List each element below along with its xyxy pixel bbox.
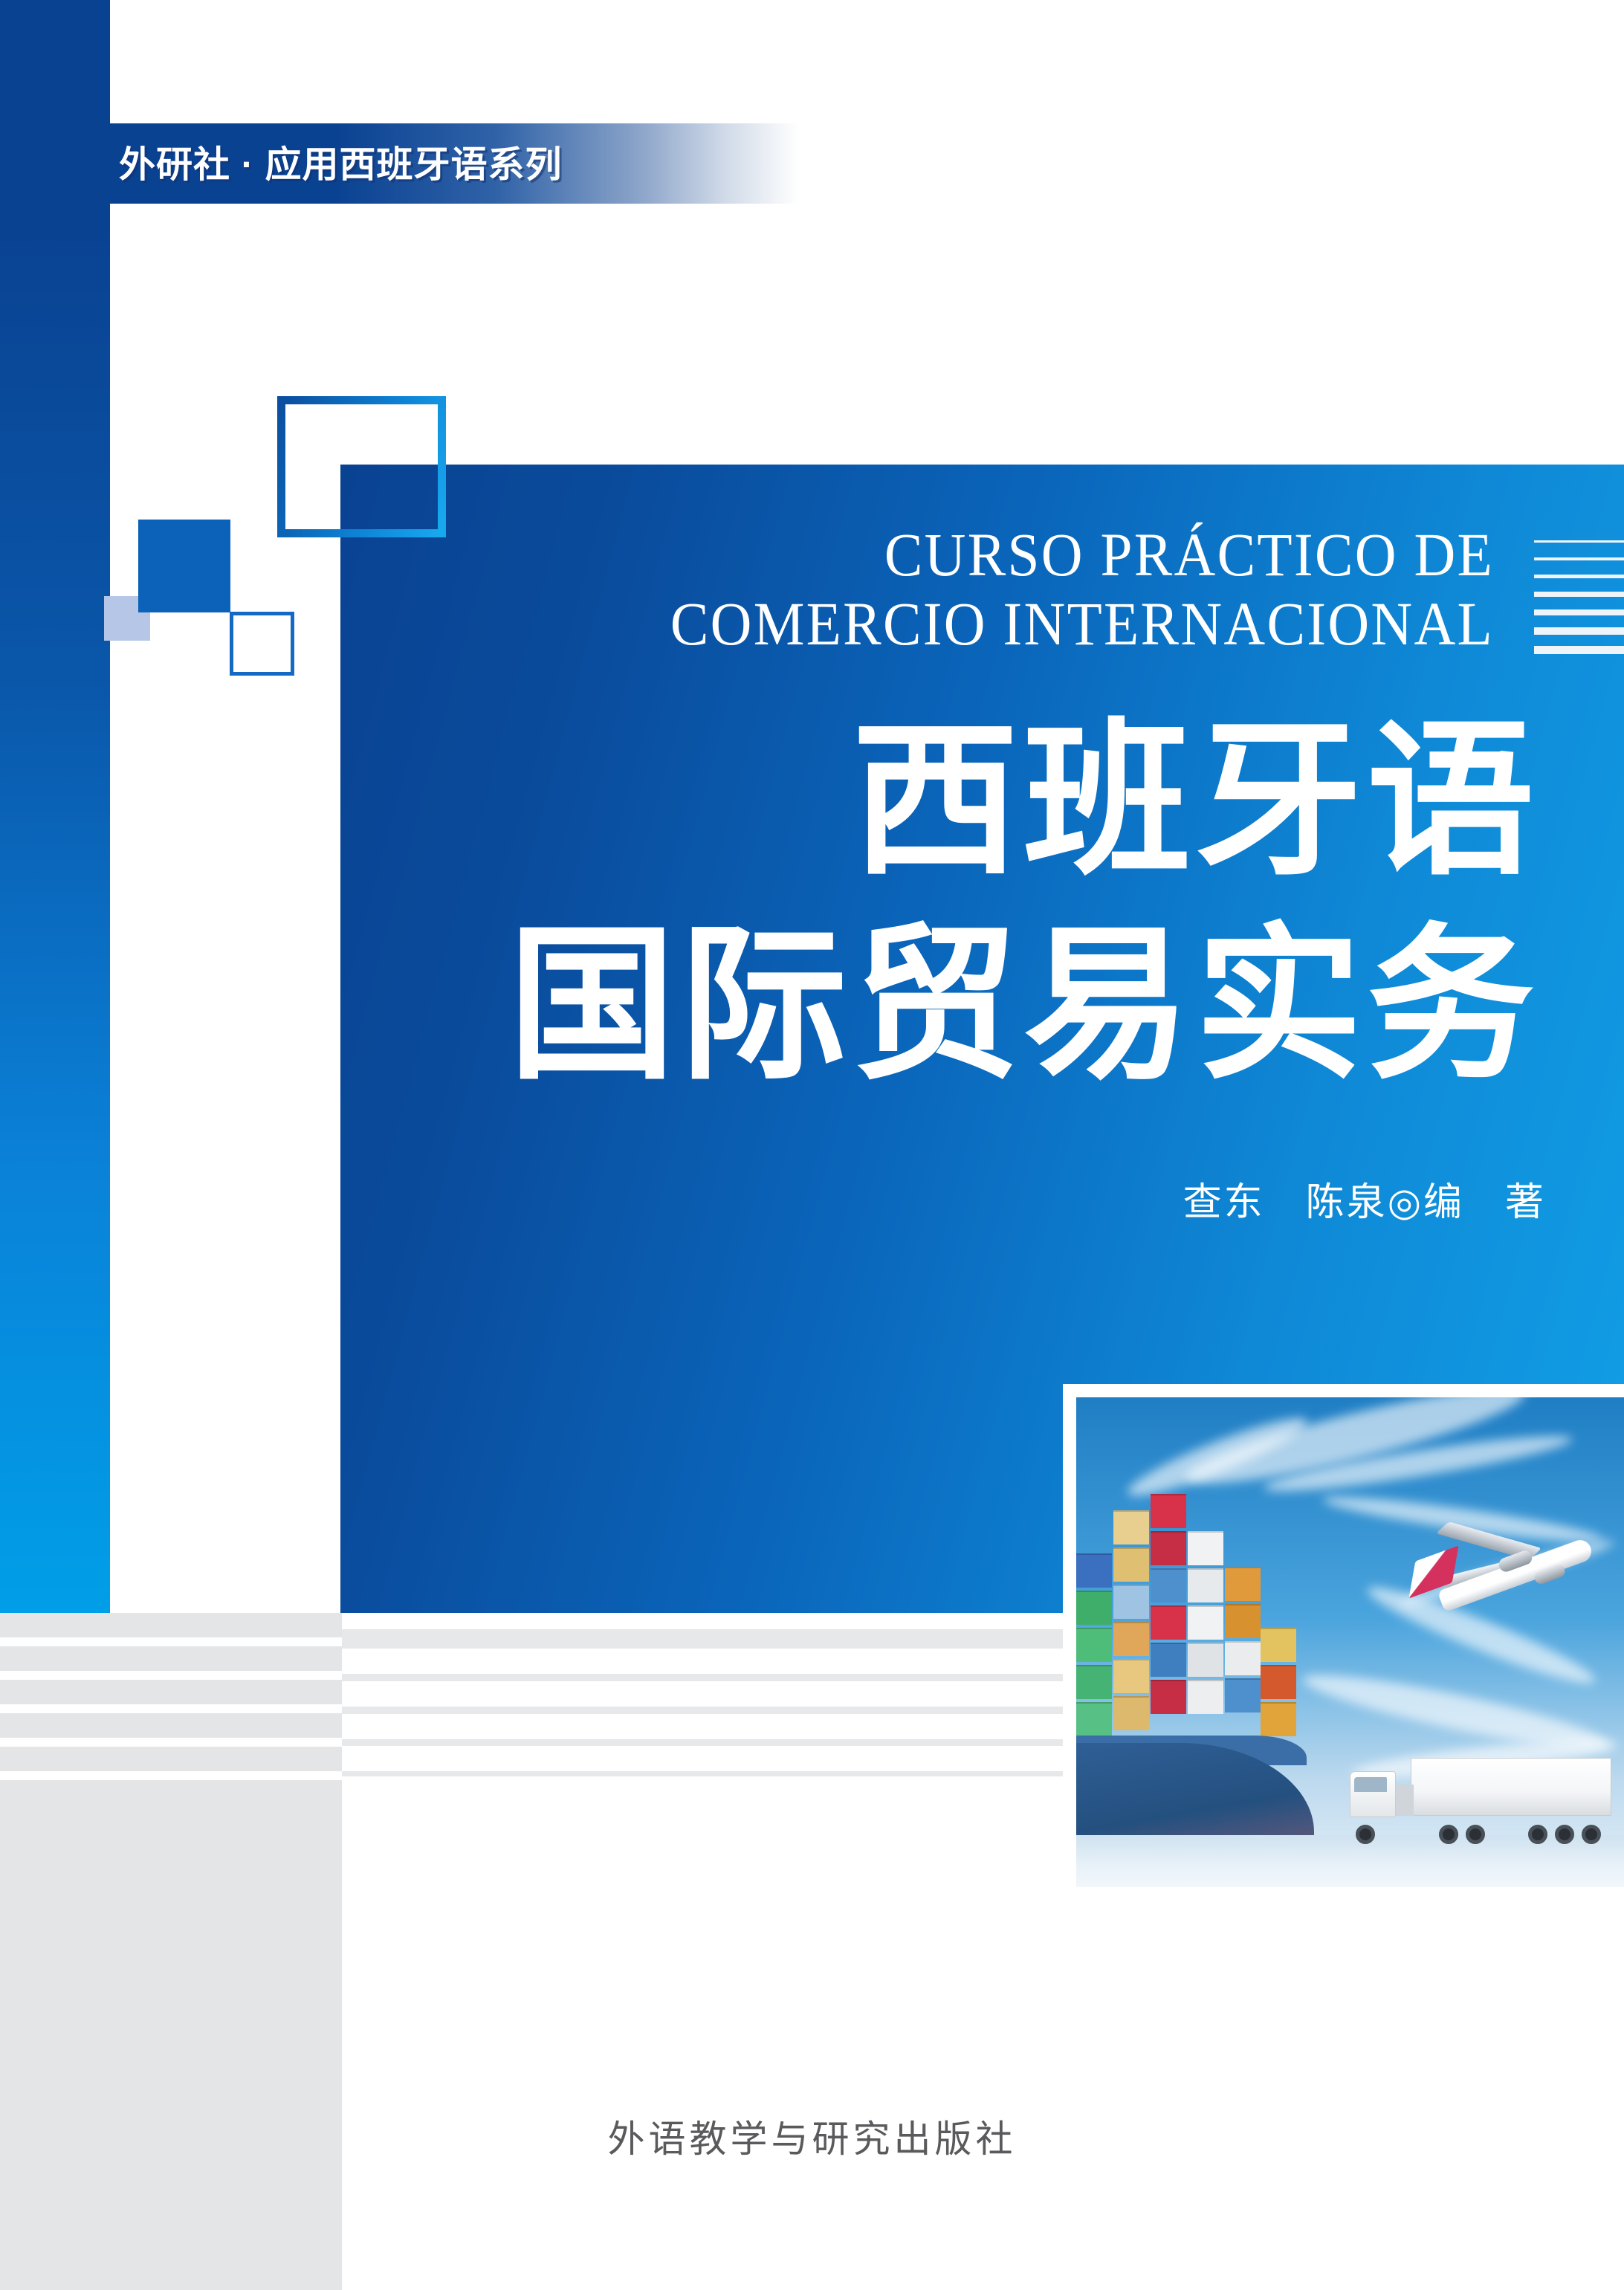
bottom-left-gray-block	[0, 1791, 342, 2290]
chinese-title-line-2: 国际贸易实务	[416, 903, 1539, 1107]
deco-line-7	[1534, 646, 1624, 654]
deco-line-1	[1534, 540, 1624, 543]
deco-line-4	[1534, 592, 1624, 597]
book-cover: 外研社 · 应用西班牙语系列 CURSO PRÁCTICO DE COMERCI…	[0, 0, 1624, 2290]
container-stack	[1076, 1442, 1299, 1762]
deco-line-5	[1534, 609, 1624, 615]
spanish-title: CURSO PRÁCTICO DE COMERCIO INTERNACIONAL	[436, 520, 1494, 659]
chinese-title: 西班牙语 国际贸易实务	[416, 699, 1539, 1107]
truck-icon	[1342, 1755, 1617, 1844]
author-line: 查东 陈泉◎编 著	[669, 1171, 1546, 1226]
cover-photo-frame	[1063, 1384, 1624, 1887]
horizontal-lines-decor	[1534, 540, 1624, 674]
solid-square-mid-decor	[138, 520, 230, 612]
bottom-stripes-left	[0, 1613, 342, 1791]
publisher-name: 外语教学与研究出版社	[0, 2109, 1624, 2163]
outline-square-small-decor	[230, 612, 294, 676]
stripe	[0, 1613, 342, 1637]
stripe	[0, 1680, 342, 1704]
spanish-title-line-1: CURSO PRÁCTICO DE	[884, 520, 1494, 589]
deco-line-6	[1534, 627, 1624, 635]
airplane-icon	[1388, 1490, 1596, 1624]
deco-line-2	[1534, 557, 1624, 560]
spanish-title-line-2: COMERCIO INTERNACIONAL	[436, 589, 1494, 659]
stripe	[0, 1646, 342, 1671]
stripe	[0, 1713, 342, 1738]
logistics-photo	[1076, 1397, 1624, 1887]
chinese-title-line-1: 西班牙语	[416, 699, 1539, 903]
series-banner-label: 外研社 · 应用西班牙语系列	[119, 135, 563, 188]
outline-square-big-decor	[277, 396, 446, 537]
deco-line-3	[1534, 575, 1624, 578]
stripe	[0, 1747, 342, 1771]
left-gradient-band	[0, 0, 110, 1624]
